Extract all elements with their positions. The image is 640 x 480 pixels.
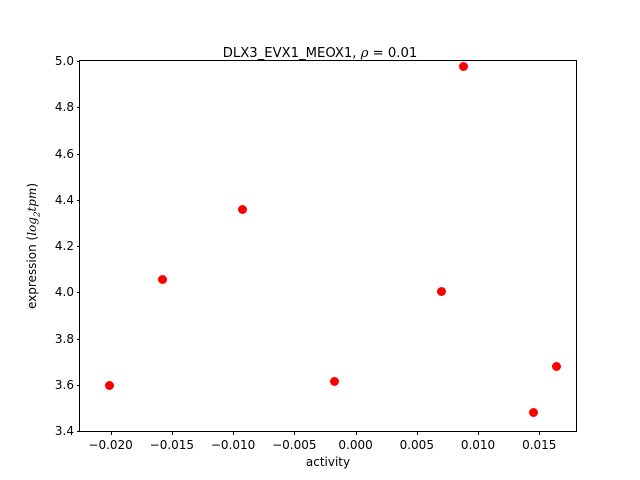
x-axis-tick	[111, 431, 112, 435]
scatter-point	[437, 287, 446, 296]
y-axis-tick	[77, 154, 81, 155]
y-axis-tick-label: 4.0	[55, 285, 74, 299]
x-axis-tick-label: 0.000	[338, 438, 372, 452]
x-axis-tick	[294, 431, 295, 435]
y-axis-label-log: log2tpm	[25, 188, 39, 236]
scatter-plot-figure: DLX3_EVX1_MEOX1, ρ = 0.01 hg19_v2_chr7_+…	[0, 0, 640, 480]
y-axis-tick	[77, 107, 81, 108]
plot-area	[80, 61, 576, 431]
x-axis-tick	[356, 431, 357, 435]
y-axis-tick	[77, 292, 81, 293]
y-axis-tick	[77, 385, 81, 386]
title-motif-name: DLX3_EVX1_MEOX1,	[223, 46, 361, 61]
y-axis-tick-label: 5.0	[55, 54, 74, 68]
y-axis-label-log-text: log	[25, 217, 39, 236]
x-axis-tick	[539, 431, 540, 435]
scatter-point	[552, 362, 561, 371]
x-axis-tick	[233, 431, 234, 435]
y-axis-label-prefix: expression (	[25, 236, 39, 309]
x-axis-tick	[478, 431, 479, 435]
scatter-point	[330, 377, 339, 386]
scatter-point	[158, 275, 167, 284]
x-axis-tick-label: −0.005	[272, 438, 316, 452]
y-axis-tick-label: 4.8	[55, 100, 74, 114]
y-axis-tick-label: 3.4	[55, 424, 74, 438]
y-axis-tick-label: 4.2	[55, 239, 74, 253]
x-axis-tick	[172, 431, 173, 435]
x-axis-tick-label: 0.005	[400, 438, 434, 452]
x-axis-tick-label: −0.020	[88, 438, 132, 452]
x-axis-tick-label: −0.015	[150, 438, 194, 452]
y-axis-label-suffix: )	[25, 183, 39, 188]
x-axis-tick	[417, 431, 418, 435]
y-axis-tick	[77, 431, 81, 432]
scatter-point	[238, 205, 247, 214]
y-axis-tick-label: 3.6	[55, 378, 74, 392]
scatter-point	[459, 62, 468, 71]
y-axis-tick	[77, 61, 81, 62]
plot-axes: −0.020−0.015−0.010−0.0050.0000.0050.0100…	[79, 60, 577, 432]
x-axis-tick-label: 0.015	[522, 438, 556, 452]
y-axis-label: expression (log2tpm)	[22, 60, 42, 432]
x-axis-tick-label: 0.010	[461, 438, 495, 452]
rho-value: = 0.01	[368, 46, 417, 61]
y-axis-tick	[77, 246, 81, 247]
scatter-point	[105, 381, 114, 390]
y-axis-tick-label: 3.8	[55, 332, 74, 346]
x-axis-label: activity	[79, 455, 577, 469]
y-axis-tick-label: 4.6	[55, 147, 74, 161]
y-axis-label-tpm: tpm	[25, 188, 39, 212]
scatter-point	[529, 408, 538, 417]
y-axis-tick	[77, 339, 81, 340]
y-axis-label-log-base: 2	[32, 212, 42, 218]
x-axis-tick-label: −0.010	[211, 438, 255, 452]
y-axis-tick	[77, 200, 81, 201]
y-axis-tick-label: 4.4	[55, 193, 74, 207]
